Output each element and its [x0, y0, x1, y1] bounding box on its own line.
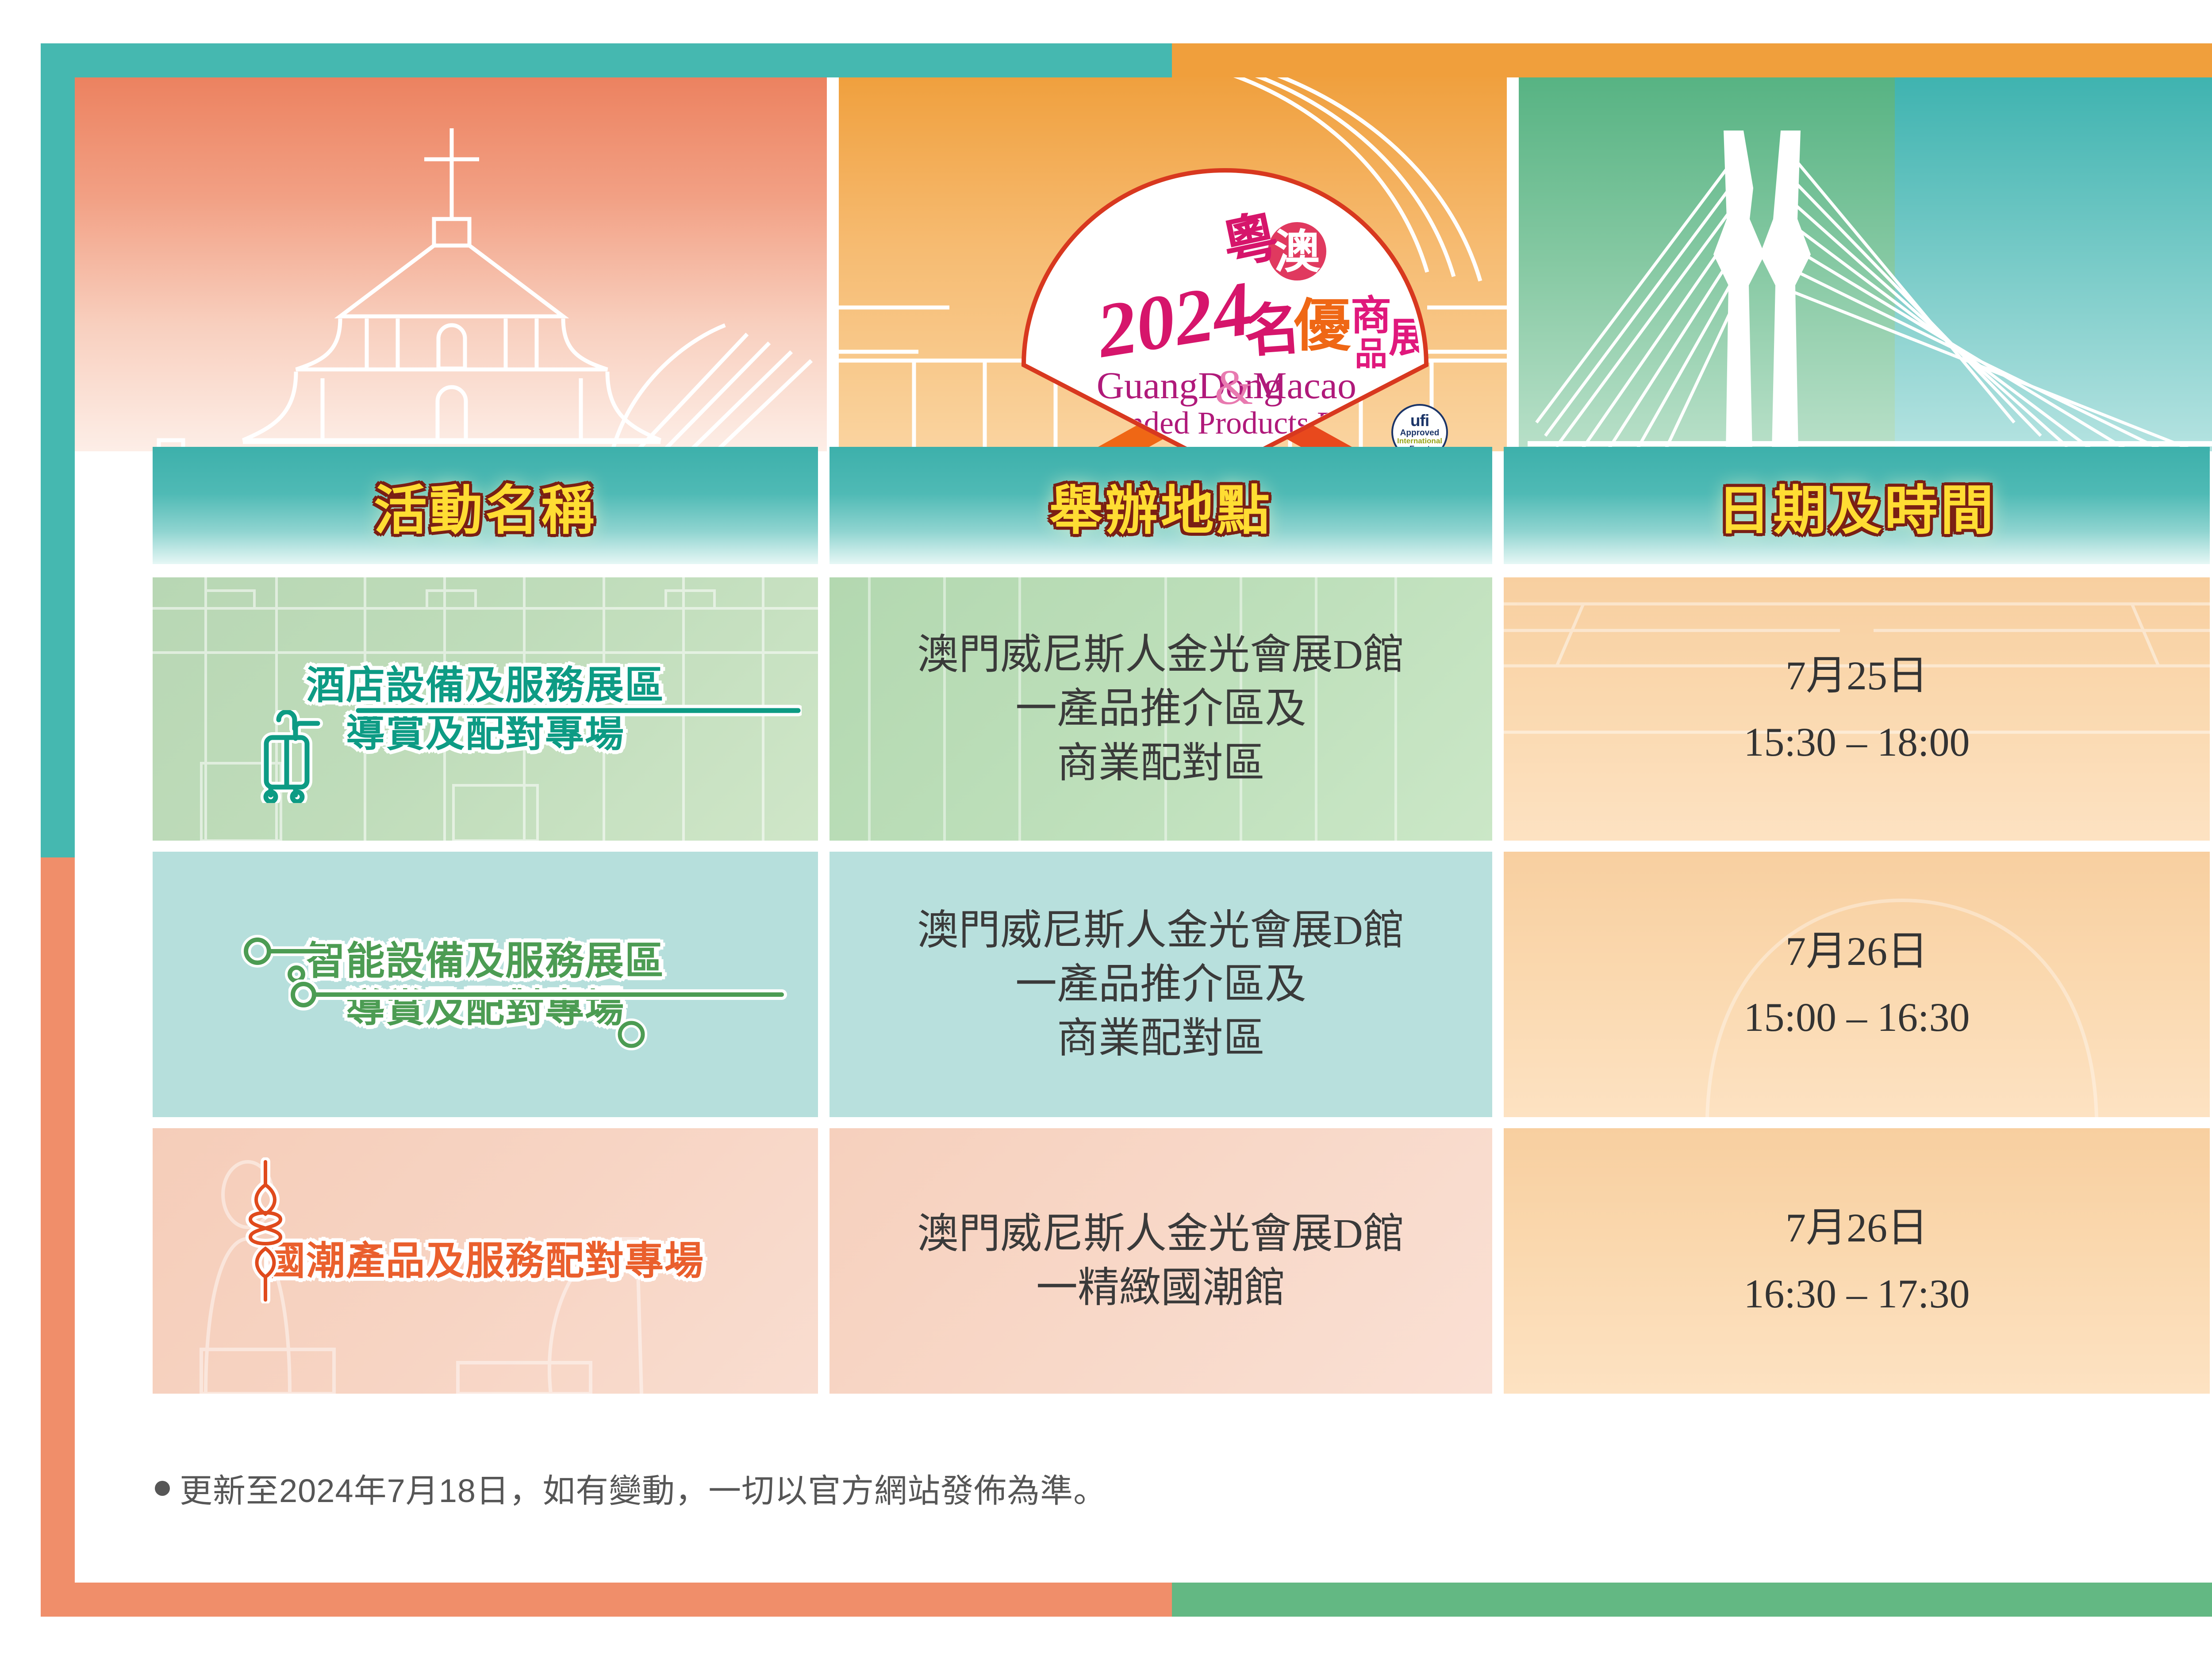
row1-date: 7月25日 [1786, 643, 1928, 709]
row2-venue-line3: 商業配對區 [1057, 1011, 1265, 1065]
svg-text:澳: 澳 [1274, 227, 1321, 278]
row1-venue-line2: 一產品推介區及 [1015, 682, 1306, 736]
svg-text:商: 商 [1351, 293, 1391, 338]
banner-left-panel [75, 77, 827, 451]
row3-venue-line1: 澳門威尼斯人金光會展D館 [917, 1207, 1405, 1261]
footnote: 更新至2024年7月18日，如有變動，一切以官方網站發佈為準。 [155, 1464, 2146, 1512]
ufi-badge-line2: International [1397, 437, 1442, 445]
row3-date: 7月26日 [1786, 1195, 1928, 1261]
table-header-event-name: 活動名稱 [153, 447, 818, 564]
svg-text:Macao: Macao [1253, 364, 1356, 407]
table-cell-venue: 澳門威尼斯人金光會展D館 一產品推介區及 商業配對區 [829, 852, 1492, 1117]
table-header-venue: 舉辦地點 [829, 447, 1492, 564]
row2-time: 15:00 – 16:30 [1743, 984, 1970, 1050]
table-row: 智能設備及服務展區 導賞及配對專場 [153, 852, 818, 1117]
row1-venue-line1: 澳門威尼斯人金光會展D館 [917, 628, 1405, 682]
table-header-datetime: 日期及時間 [1504, 447, 2210, 564]
row2-date: 7月26日 [1786, 918, 1928, 984]
macau-church-illustration [75, 77, 827, 451]
row2-venue-line2: 一產品推介區及 [1015, 957, 1306, 1011]
table-row: 國潮產品及服務配對專場 [153, 1128, 818, 1394]
banner-right-panel [1519, 77, 2212, 451]
frame-top-left [41, 43, 1172, 77]
header-label-venue: 舉辦地點 [1049, 467, 1272, 544]
schedule-table: 活動名稱 舉辦地點 日期及時間 酒 [153, 447, 2210, 1425]
header-label-datetime: 日期及時間 [1717, 467, 1996, 544]
frame-bottom-right [1172, 1583, 2212, 1617]
ufi-badge-name: ufi [1410, 412, 1429, 429]
frame-left-bottom [41, 857, 75, 1617]
row3-event-line1: 國潮產品及服務配對專場 [266, 1237, 704, 1284]
frame-bottom-left [41, 1583, 1172, 1617]
table-cell-venue: 澳門威尼斯人金光會展D館 一精緻國潮館 [829, 1128, 1492, 1394]
row1-event-line2: 導賞及配對專場 [306, 709, 664, 757]
row2-event-line1: 智能設備及服務展區 [306, 937, 664, 984]
header-label-event-name: 活動名稱 [374, 467, 597, 544]
row2-event-line2: 導賞及配對專場 [306, 984, 664, 1032]
svg-text:優: 優 [1294, 295, 1351, 357]
row1-time: 15:30 – 18:00 [1743, 709, 1970, 775]
row1-event-line1: 酒店設備及服務展區 [306, 661, 664, 709]
cable-stayed-bridge-illustration [1519, 77, 2212, 451]
poster-root: 粵 澳 2024 名 優 商 品 展 GuangDong & Macao Bra… [0, 0, 2212, 1660]
row3-time: 16:30 – 17:30 [1743, 1261, 1970, 1327]
svg-text:品: 品 [1355, 336, 1387, 373]
table-row: 酒店設備及服務展區 [153, 577, 818, 841]
footnote-text: 更新至2024年7月18日，如有變動，一切以官方網站發佈為準。 [180, 1464, 1106, 1512]
row1-venue-line3: 商業配對區 [1057, 736, 1265, 790]
table-cell-venue: 澳門威尼斯人金光會展D館 一產品推介區及 商業配對區 [829, 577, 1492, 841]
table-cell-datetime: 7月26日 15:00 – 16:30 [1504, 852, 2210, 1117]
frame-top-right [1172, 43, 2212, 77]
banner: 粵 澳 2024 名 優 商 品 展 GuangDong & Macao Bra… [75, 77, 2212, 451]
bullet-icon [155, 1481, 170, 1496]
frame-left-top [41, 43, 75, 857]
row2-venue-line1: 澳門威尼斯人金光會展D館 [917, 903, 1405, 957]
ufi-badge-line1: Approved [1400, 429, 1440, 437]
table-cell-datetime: 7月25日 15:30 – 18:00 [1504, 577, 2210, 841]
row3-venue-line2: 一精緻國潮館 [1036, 1261, 1286, 1315]
table-cell-datetime: 7月26日 16:30 – 17:30 [1504, 1128, 2210, 1394]
